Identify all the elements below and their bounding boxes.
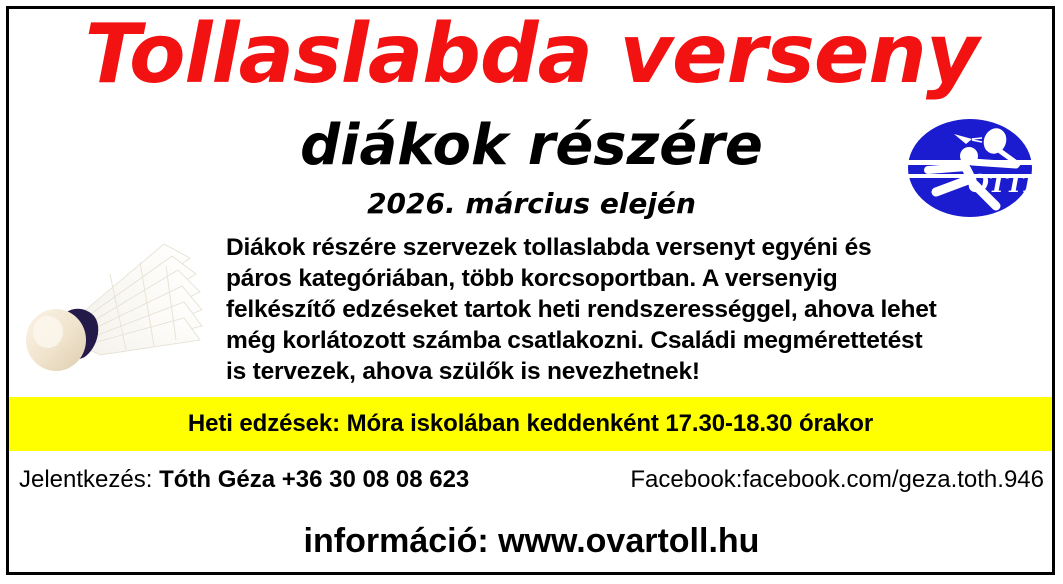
contact-row: Jelentkezés: Tóth Géza +36 30 08 08 623 … [9,466,1052,506]
registration-label: Jelentkezés: [19,466,152,493]
training-schedule-text: Heti edzések: Móra iskolában keddenként … [188,410,873,438]
poster-root: Tollaslabda verseny diákok részére 2026.… [0,0,1063,584]
body-paragraph: Diákok részére szervezek tollaslabda ver… [226,232,938,387]
facebook-link[interactable]: Facebook:facebook.com/geza.toth.946 [630,466,1044,494]
page-subtitle: diákok részére [0,118,1063,174]
training-schedule-banner: Heti edzések: Móra iskolában keddenként … [9,397,1052,451]
page-title: Tollaslabda verseny [0,14,1063,96]
shuttlecock-icon [14,222,219,387]
shuttlecock-image [14,222,219,387]
otte-club-logo: OTTE [906,118,1034,218]
otte-logo-text: OTTE [968,169,1034,198]
registration-contact: Jelentkezés: Tóth Géza +36 30 08 08 623 [19,466,469,494]
website-info-line[interactable]: információ: www.ovartoll.hu [0,522,1063,561]
registration-name-phone: Tóth Géza +36 30 08 08 623 [159,466,469,493]
otte-logo-icon: OTTE [906,118,1034,218]
event-date: 2026. március elején [0,190,1063,218]
